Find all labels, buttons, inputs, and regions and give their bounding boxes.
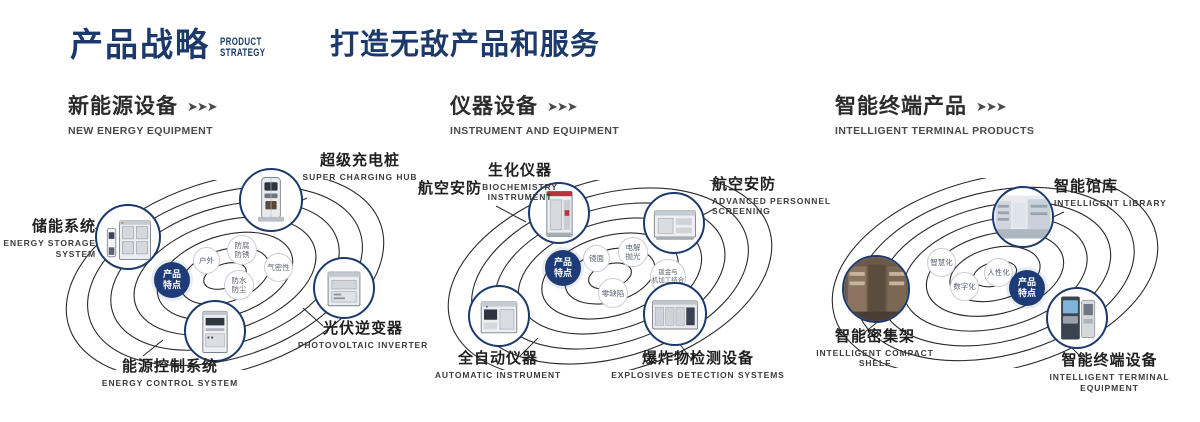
library-room-icon — [994, 188, 1052, 246]
product-caption-cn: 智能馆库 — [1054, 178, 1200, 196]
feature-chip-label: 防腐 防锈 — [235, 241, 250, 259]
explosive-detector-icon — [645, 284, 705, 344]
page-title: 产品战略 PRODUCT STRATEGY — [70, 28, 283, 61]
product-caption-cn: 全自动仪器 — [418, 350, 578, 368]
category-title-cn: 新能源设备 — [68, 96, 178, 117]
category-title-en: INSTRUMENT AND EQUIPMENT — [450, 125, 619, 137]
category-heading-new-energy: 新能源设备 ➤➤➤ NEW ENERGY EQUIPMENT — [68, 96, 217, 137]
product-caption-compact-shelf: 智能密集架 INTELLIGENT COMPACT SHELF — [805, 328, 945, 368]
product-caption-en: INTELLIGENT COMPACT SHELF — [805, 348, 945, 368]
feature-core-line1: 产品 — [1018, 277, 1036, 288]
feature-core-instrument: 产品 特点 — [545, 250, 581, 286]
product-caption-en: INTELLIGENT LIBRARY — [1054, 198, 1200, 209]
feature-chip-label: 人性化 — [987, 268, 1010, 277]
chevron-right-triple-icon: ➤➤➤ — [547, 100, 577, 113]
category-title-cn: 仪器设备 — [450, 96, 538, 117]
poster-canvas: 产品战略 PRODUCT STRATEGY 打造无敌产品和服务 新能源设备 ➤➤… — [0, 0, 1200, 422]
page-title-en: PRODUCT STRATEGY — [220, 37, 265, 59]
feature-chip-airtight: 气密性 — [264, 253, 293, 282]
feature-chip-smart: 智慧化 — [927, 248, 956, 277]
feature-chip-zerodefect: 零缺陷 — [598, 278, 628, 308]
product-caption-cn: 爆炸物检测设备 — [608, 350, 788, 368]
product-caption-energy-storage: 储能系统 ENERGY STORAGE SYSTEM — [0, 218, 96, 260]
product-bubble-auto-instrument[interactable] — [468, 285, 530, 347]
feature-chip-anticorrosion: 防腐 防锈 — [227, 235, 257, 265]
product-caption-en: AUTOMATIC INSTRUMENT — [418, 370, 578, 381]
chevron-right-triple-icon: ➤➤➤ — [976, 100, 1006, 113]
battery-cabinet-icon — [97, 206, 159, 268]
product-caption-cn: 能源控制系统 — [70, 358, 270, 376]
product-bubble-compact-shelf[interactable] — [842, 255, 910, 323]
product-caption-en: BIOCHEMISTRY INSTRUMENT — [450, 182, 590, 202]
feature-core-line2: 特点 — [1018, 288, 1036, 299]
feature-core-new-energy: 产品 特点 — [154, 262, 190, 298]
feature-chip-digital: 数字化 — [950, 272, 979, 301]
auto-instrument-icon — [470, 287, 528, 345]
feature-core-line2: 特点 — [554, 268, 572, 279]
product-caption-en: ENERGY STORAGE SYSTEM — [0, 238, 96, 260]
product-caption-energy-control: 能源控制系统 ENERGY CONTROL SYSTEM — [70, 358, 270, 389]
product-bubble-energy-storage[interactable] — [95, 204, 161, 270]
feature-chip-electropolish: 电解 抛光 — [618, 237, 648, 267]
product-caption-en: EXPLOSIVES DETECTION SYSTEMS — [608, 370, 788, 381]
category-heading-terminal: 智能终端产品 ➤➤➤ INTELLIGENT TERMINAL PRODUCTS — [835, 96, 1034, 137]
pv-inverter-icon — [315, 259, 373, 317]
feature-chip-waterproof: 防水 防尘 — [224, 270, 254, 300]
category-title-en: INTELLIGENT TERMINAL PRODUCTS — [835, 125, 1034, 137]
page-subtitle: 打造无敌产品和服务 — [330, 30, 600, 62]
feature-core-line1: 产品 — [163, 269, 181, 280]
product-caption-cn: 储能系统 — [0, 218, 96, 236]
feature-chip-label: 智慧化 — [930, 258, 953, 267]
category-title-en: NEW ENERGY EQUIPMENT — [68, 125, 217, 137]
screening-machine-icon — [645, 194, 703, 252]
product-caption-explosive-detector: 爆炸物检测设备 EXPLOSIVES DETECTION SYSTEMS — [608, 350, 788, 381]
product-caption-cn: 智能密集架 — [805, 328, 945, 346]
product-caption-cn: 超级充电桩 — [270, 152, 450, 170]
feature-chip-label: 户外 — [199, 256, 214, 265]
feature-chip-label: 镜面 — [589, 254, 604, 263]
feature-chip-label: 数字化 — [953, 282, 976, 291]
page-title-en-line2: STRATEGY — [220, 47, 265, 59]
product-bubble-kiosk[interactable] — [1046, 287, 1108, 349]
feature-chip-humanized: 人性化 — [984, 258, 1013, 287]
product-caption-en: INTELLIGENT TERMINAL EQUIPMENT — [1022, 372, 1197, 394]
page-title-cn: 产品战略 — [70, 28, 210, 61]
product-bubble-energy-control[interactable] — [184, 300, 246, 362]
product-bubble-explosive-detector[interactable] — [643, 282, 707, 346]
feature-core-line1: 产品 — [554, 257, 572, 268]
product-bubble-screening[interactable] — [643, 192, 705, 254]
product-caption-charging-hub: 超级充电桩 SUPER CHARGING HUB — [270, 152, 450, 183]
product-bubble-library[interactable] — [992, 186, 1054, 248]
category-heading-instrument: 仪器设备 ➤➤➤ INSTRUMENT AND EQUIPMENT — [450, 96, 619, 137]
product-bubble-pv-inverter[interactable] — [313, 257, 375, 319]
feature-core-line2: 特点 — [163, 280, 181, 291]
feature-chip-mirror: 镜面 — [583, 245, 610, 272]
product-caption-biochem: 生化仪器 BIOCHEMISTRY INSTRUMENT — [450, 162, 590, 202]
product-caption-cn: 智能终端设备 — [1022, 352, 1197, 370]
feature-chip-label: 气密性 — [267, 263, 290, 272]
control-cabinet-icon — [186, 302, 244, 360]
compact-shelf-icon — [844, 257, 908, 321]
kiosk-terminal-icon — [1048, 289, 1106, 347]
product-caption-auto-instrument: 全自动仪器 AUTOMATIC INSTRUMENT — [418, 350, 578, 381]
category-title-cn: 智能终端产品 — [835, 96, 967, 117]
product-caption-library: 智能馆库 INTELLIGENT LIBRARY — [1054, 178, 1200, 209]
chevron-right-triple-icon: ➤➤➤ — [187, 100, 217, 113]
feature-chip-label: 零缺陷 — [602, 289, 625, 298]
product-caption-kiosk: 智能终端设备 INTELLIGENT TERMINAL EQUIPMENT — [1022, 352, 1197, 394]
feature-core-terminal: 产品 特点 — [1009, 270, 1045, 306]
feature-chip-outdoor: 户外 — [193, 247, 220, 274]
product-caption-cn: 生化仪器 — [450, 162, 590, 180]
feature-chip-label: 电解 抛光 — [626, 243, 641, 261]
feature-chip-label: 防水 防尘 — [232, 276, 247, 294]
product-caption-cn: 光伏逆变器 — [268, 320, 458, 338]
product-caption-pv-inverter: 光伏逆变器 PHOTOVOLTAIC INVERTER — [268, 320, 458, 351]
product-caption-en: ENERGY CONTROL SYSTEM — [70, 378, 270, 389]
